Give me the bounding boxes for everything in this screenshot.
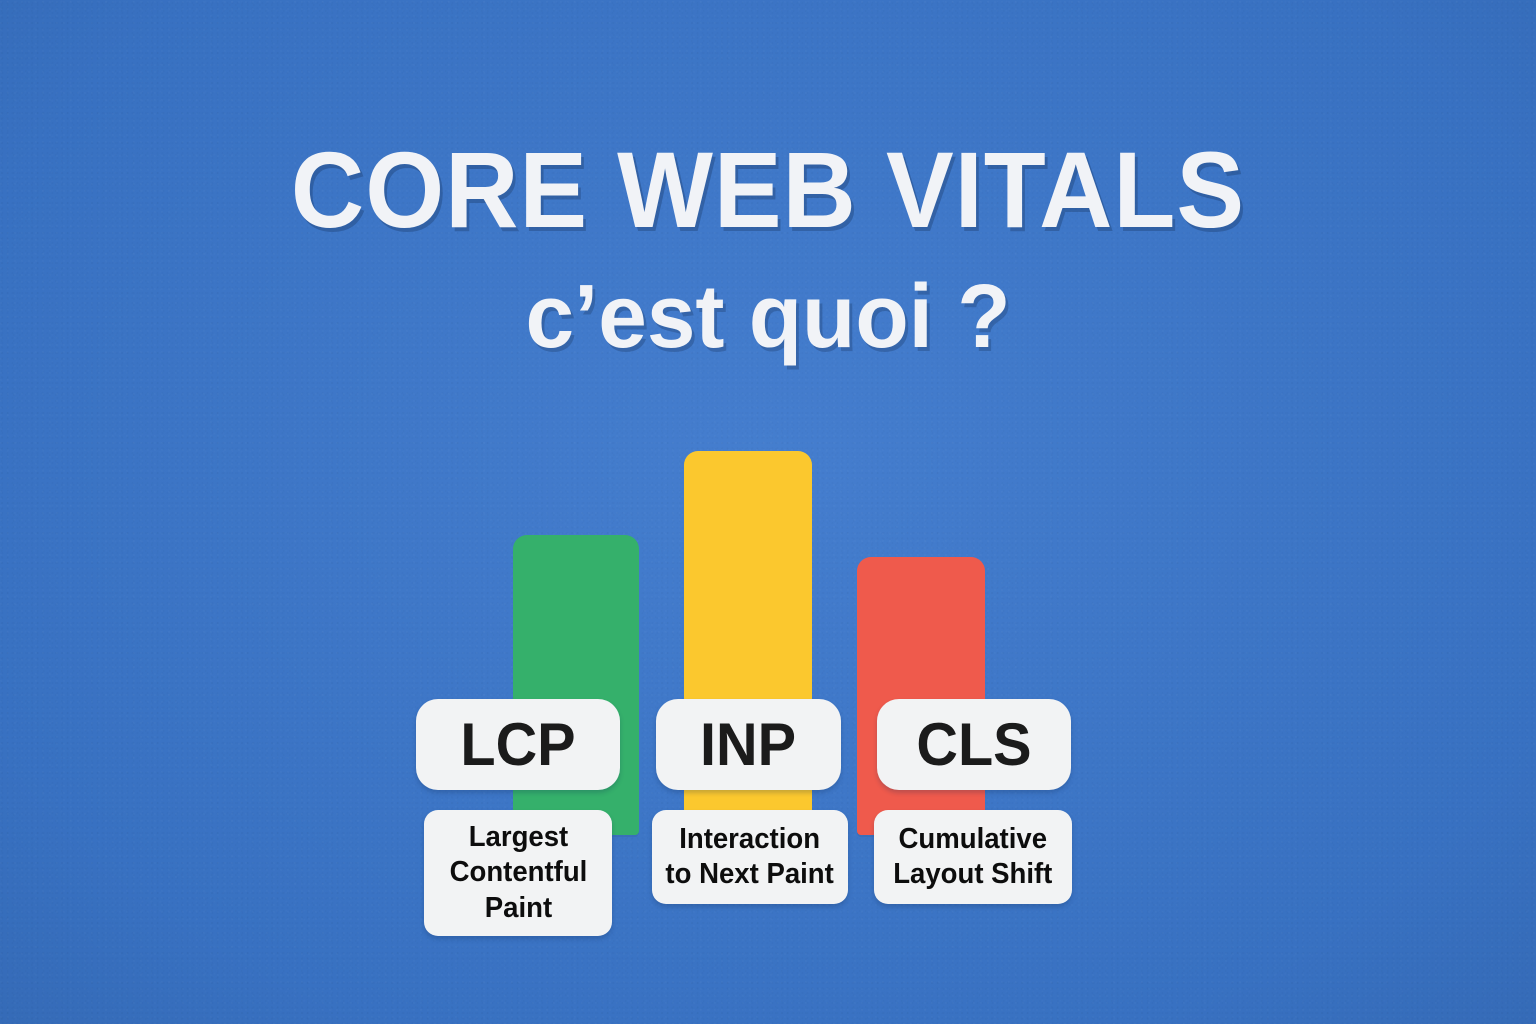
metric-description-label: Cumulative Layout Shift xyxy=(893,822,1052,893)
poster-canvas: CORE WEB VITALS c’est quoi ? LCP INP CLS… xyxy=(0,0,1536,1024)
metric-description-label: Interaction to Next Paint xyxy=(666,822,834,893)
metric-description-label: Largest Contentful Paint xyxy=(449,820,587,926)
headline-block: CORE WEB VITALS xyxy=(0,136,1536,244)
metric-pill-cls: CLS xyxy=(877,699,1071,790)
page-subtitle: c’est quoi ? xyxy=(23,272,1513,362)
metric-description-lcp: Largest Contentful Paint xyxy=(424,810,612,936)
bar-cls xyxy=(857,557,985,835)
metric-abbr-label: INP xyxy=(700,715,796,775)
metric-description-inp: Interaction to Next Paint xyxy=(652,810,848,904)
metric-pill-lcp: LCP xyxy=(416,699,620,790)
metric-abbr-label: CLS xyxy=(916,715,1031,775)
metric-pill-inp: INP xyxy=(656,699,841,790)
metric-description-cls: Cumulative Layout Shift xyxy=(874,810,1072,904)
metric-abbr-label: LCP xyxy=(460,715,575,775)
subheadline-block: c’est quoi ? xyxy=(0,272,1536,362)
bar-lcp xyxy=(513,535,639,835)
page-title: CORE WEB VITALS xyxy=(46,136,1490,244)
